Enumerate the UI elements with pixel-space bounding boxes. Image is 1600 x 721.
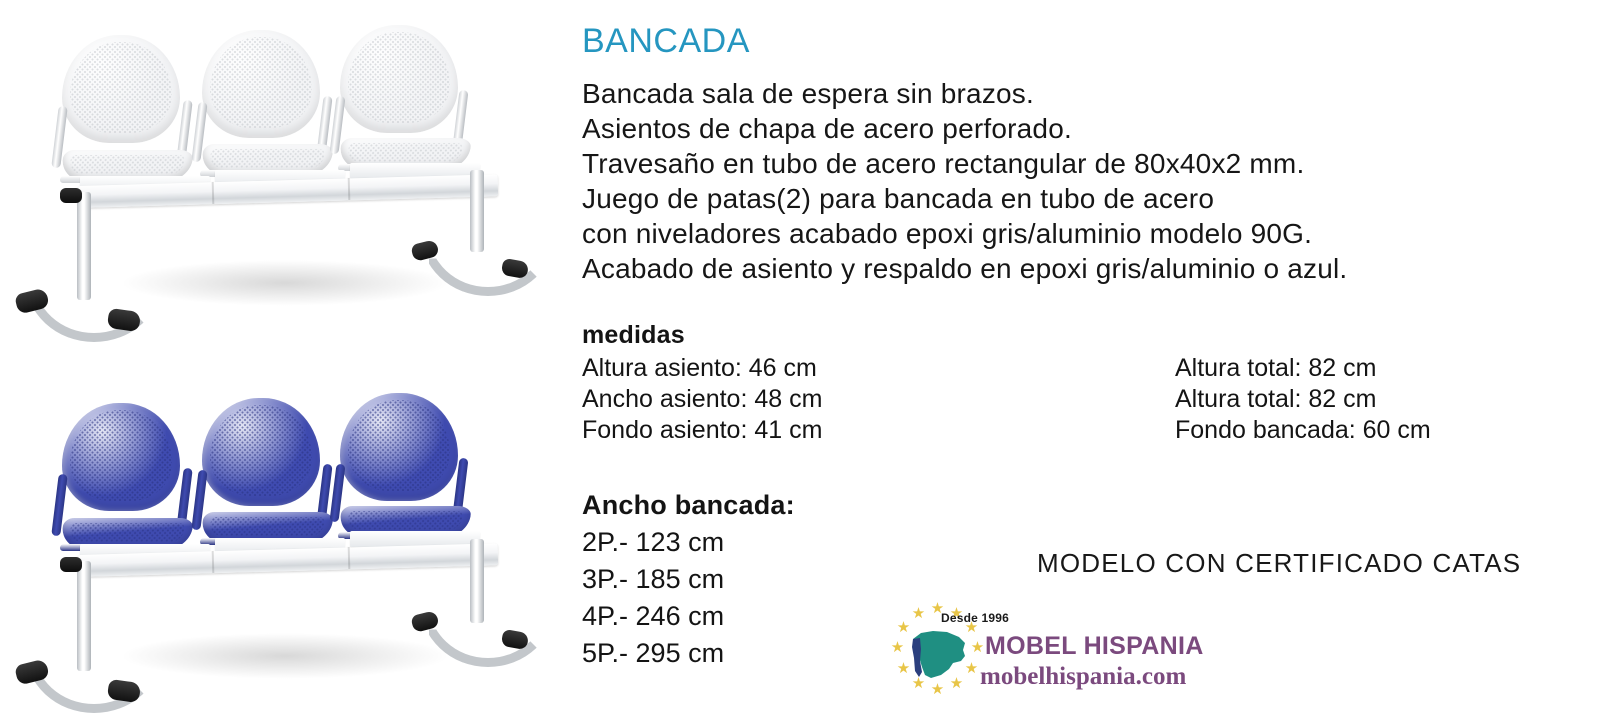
bench-width-2p: 2P.- 123 cm	[582, 524, 795, 561]
measures-table: Altura asiento: 46 cm Altura total: 82 c…	[582, 353, 1582, 446]
product-photo-bench-grey	[0, 10, 570, 340]
measure-total-height: Altura total: 82 cm	[1175, 353, 1376, 384]
beam-end-cap	[60, 188, 82, 203]
description-line: con niveladores acabado epoxi gris/alumi…	[582, 216, 1572, 251]
page-title: BANCADA	[582, 22, 750, 61]
backrest	[340, 393, 458, 501]
description-line: Travesaño en tubo de acero rectangular d…	[582, 146, 1572, 181]
measures-heading: medidas	[582, 320, 1582, 351]
measures-section: medidas Altura asiento: 46 cm Altura tot…	[582, 320, 1582, 446]
product-info-panel: BANCADA Bancada sala de espera sin brazo…	[582, 0, 1600, 721]
bench-width-5p: 5P.- 295 cm	[582, 635, 795, 672]
backrest	[62, 403, 180, 511]
company-logo[interactable]: ★ ★ ★ ★ ★ ★ ★ ★ ★ ★ ★ ★ Desde 1996 MOBEL…	[885, 595, 1175, 713]
measure-seat-height: Altura asiento: 46 cm	[582, 353, 817, 384]
description-line: Acabado de asiento y respaldo en epoxi g…	[582, 251, 1572, 286]
product-photo-column	[0, 0, 570, 721]
description-line: Asientos de chapa de acero perforado.	[582, 111, 1572, 146]
bench-width-heading: Ancho bancada:	[582, 486, 795, 524]
logo-since-label: Desde 1996	[941, 611, 1009, 625]
photo-shadow	[120, 260, 450, 306]
measure-row: Altura asiento: 46 cm Altura total: 82 c…	[582, 353, 1582, 384]
certificate-note: MODELO CON CERTIFICADO CATAS	[1037, 548, 1521, 579]
description-line: Bancada sala de espera sin brazos.	[582, 76, 1572, 111]
star-icon: ★	[890, 640, 905, 655]
measure-bench-depth: Fondo bancada: 60 cm	[1175, 415, 1431, 446]
measure-seat-depth: Fondo asiento: 41 cm	[582, 415, 822, 446]
bench-width-section: Ancho bancada: 2P.- 123 cm 3P.- 185 cm 4…	[582, 486, 795, 672]
backrest	[340, 25, 458, 133]
iberian-peninsula-icon	[907, 625, 969, 685]
measure-seat-width: Ancho asiento: 48 cm	[582, 384, 822, 415]
measure-row: Fondo asiento: 41 cm Fondo bancada: 60 c…	[582, 415, 1582, 446]
product-description: Bancada sala de espera sin brazos. Asien…	[582, 76, 1572, 286]
leg-arch-left	[25, 649, 163, 713]
product-photo-bench-blue	[0, 375, 570, 715]
backrest	[62, 35, 180, 143]
measure-row: Ancho asiento: 48 cm Altura total: 82 cm	[582, 384, 1582, 415]
bench-width-4p: 4P.- 246 cm	[582, 598, 795, 635]
photo-shadow	[120, 633, 450, 679]
leg-arch-left	[25, 278, 163, 342]
description-line: Juego de patas(2) para bancada en tubo d…	[582, 181, 1572, 216]
backrest	[202, 30, 320, 138]
logo-website-url: mobelhispania.com	[980, 663, 1186, 691]
star-icon: ★	[970, 640, 985, 655]
star-icon: ★	[911, 606, 926, 621]
beam-end-cap	[60, 557, 82, 572]
measure-total-height-2: Altura total: 82 cm	[1175, 384, 1376, 415]
backrest	[202, 398, 320, 506]
logo-company-name: MOBEL HISPANIA	[985, 632, 1204, 661]
bench-width-3p: 3P.- 185 cm	[582, 561, 795, 598]
